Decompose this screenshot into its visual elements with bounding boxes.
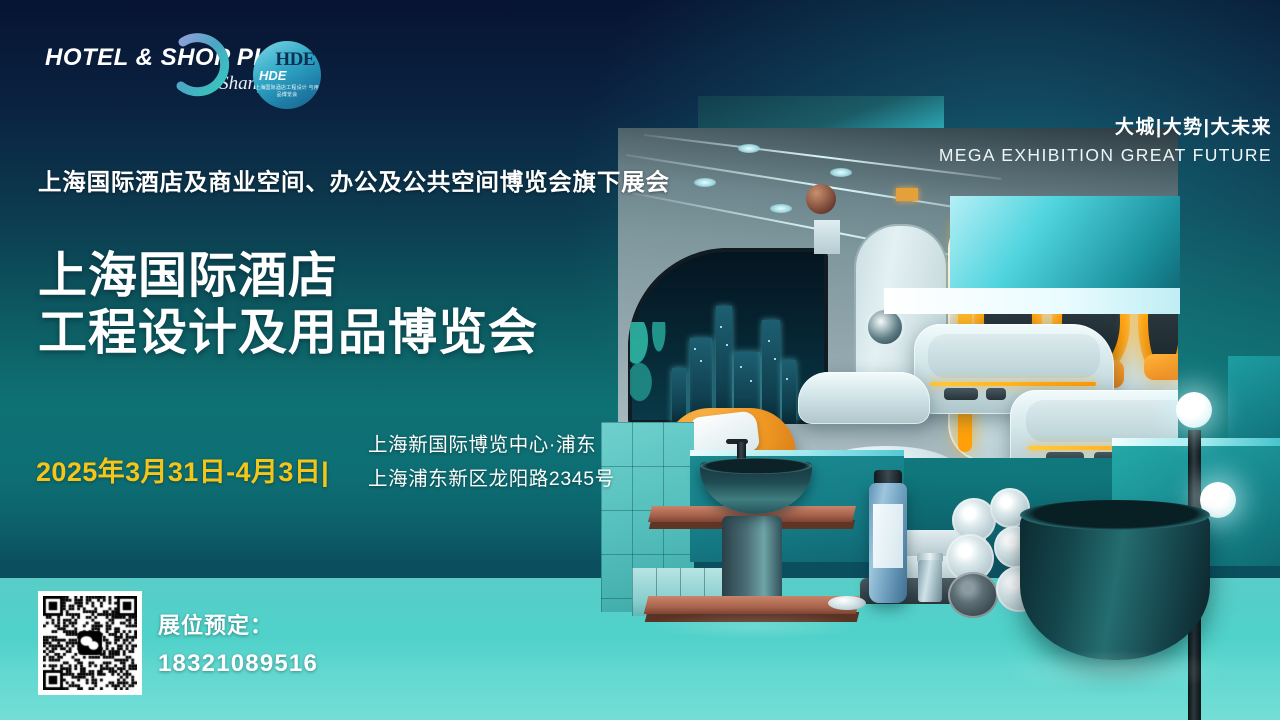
- floor-reflection: [1000, 650, 1230, 690]
- wechat-qr-code-icon[interactable]: [38, 591, 142, 695]
- ceiling-downlight-icon: [770, 204, 792, 213]
- sink-pedestal: [722, 516, 782, 606]
- lamp-globe-icon: [1176, 392, 1212, 428]
- hde-badge-initials-small: HDE: [259, 68, 286, 83]
- wall-panel: [814, 220, 840, 254]
- orange-pillow: [1144, 354, 1178, 380]
- soap-dish: [828, 596, 866, 610]
- venue-address: 上海浦东新区龙阳路2345号: [368, 462, 615, 496]
- ceiling-downlight-icon: [738, 144, 760, 153]
- subtitle: 上海国际酒店及商业空间、办公及公共空间博览会旗下展会: [38, 163, 670, 197]
- ceiling-downlight-icon: [830, 168, 852, 177]
- bottle-label: [873, 504, 903, 568]
- wall-clock-icon: [806, 184, 836, 214]
- freestanding-bathtub: [1020, 508, 1210, 660]
- ceiling-downlight-icon: [694, 178, 716, 187]
- cosmetic-jar: [918, 560, 942, 602]
- qr-code-canvas: [43, 596, 137, 690]
- venue-name: 上海新国际博览中心·浦东: [368, 428, 615, 462]
- page-title-line-1: 上海国际酒店: [38, 248, 538, 305]
- event-date: 2025年3月31日-4月3日|: [36, 450, 329, 489]
- floor-reflection: [650, 612, 860, 640]
- tagline: 大城|大势|大未来 MEGA EXHIBITION GREAT FUTURE: [939, 112, 1272, 166]
- hde-badge: HDE HDE 上海国际酒店工程设计 与用品博览会: [253, 41, 321, 109]
- hde-badge-chinese-name: 上海国际酒店工程设计 与用品博览会: [253, 85, 321, 98]
- page-title: 上海国际酒店 工程设计及用品博览会: [38, 248, 538, 362]
- circular-arc-logo-icon: [167, 33, 233, 99]
- booking-info: 展位预定： 18321089516: [158, 608, 318, 678]
- palm-plant-silhouette: [630, 322, 678, 422]
- door-porthole: [868, 310, 902, 344]
- exit-sign-icon: [896, 188, 918, 201]
- booking-phone-number[interactable]: 18321089516: [158, 650, 318, 678]
- booking-label: 展位预定：: [158, 608, 318, 640]
- tagline-english: MEGA EXHIBITION GREAT FUTURE: [939, 145, 1272, 166]
- venue-info: 上海新国际博览中心·浦东 上海浦东新区龙阳路2345号: [368, 428, 615, 496]
- freestanding-bathtub-rim: [1020, 500, 1210, 530]
- tagline-chinese: 大城|大势|大未来: [939, 112, 1272, 139]
- white-light-band: [884, 288, 1180, 314]
- page-title-line-2: 工程设计及用品博览会: [38, 305, 538, 362]
- vessel-sink-rim: [700, 458, 812, 474]
- lounge-bench: [798, 372, 930, 424]
- banner-canvas: HOTEL & SHOP PLUS Shanghai HDE HDE 上海国际酒…: [0, 0, 1280, 720]
- rolled-towel-dark: [948, 572, 998, 618]
